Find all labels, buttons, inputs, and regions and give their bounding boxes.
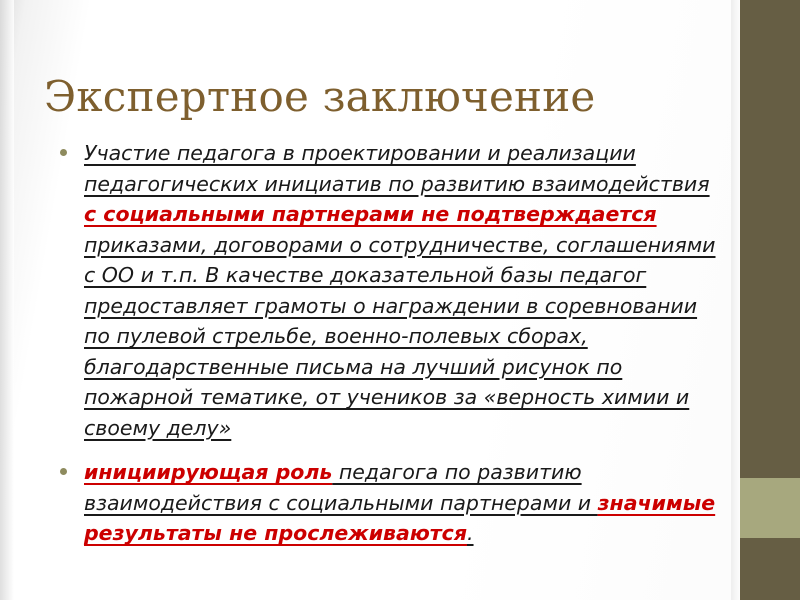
decorative-bar-bottom — [740, 538, 800, 600]
body-text: Участие педагога в проектировании и реал… — [84, 141, 710, 196]
bullet-text: Участие педагога в проектировании и реал… — [84, 141, 716, 440]
slide-right-gutter — [731, 0, 740, 600]
decorative-bar-accent — [740, 478, 800, 538]
slide-left-edge-shading — [0, 0, 14, 600]
bullet-item: инициирующая роль педагога по развитию в… — [52, 457, 720, 549]
decorative-bar-top — [740, 0, 800, 478]
body-text: . — [467, 521, 474, 545]
slide-body-content: Участие педагога в проектировании и реал… — [52, 138, 720, 563]
bullet-item: Участие педагога в проектировании и реал… — [52, 138, 720, 443]
bullet-text: инициирующая роль педагога по развитию в… — [84, 460, 715, 545]
slide-title: Экспертное заключение — [44, 72, 704, 122]
emphasis-text: с социальными партнерами не подтверждает… — [84, 202, 657, 226]
bullet-marker-icon — [60, 468, 67, 475]
body-text: приказами, договорами о сотрудничестве, … — [84, 233, 716, 440]
bullet-marker-icon — [60, 149, 67, 156]
presentation-slide: Экспертное заключение Участие педагога в… — [0, 0, 800, 600]
emphasis-text: инициирующая роль — [84, 460, 332, 484]
